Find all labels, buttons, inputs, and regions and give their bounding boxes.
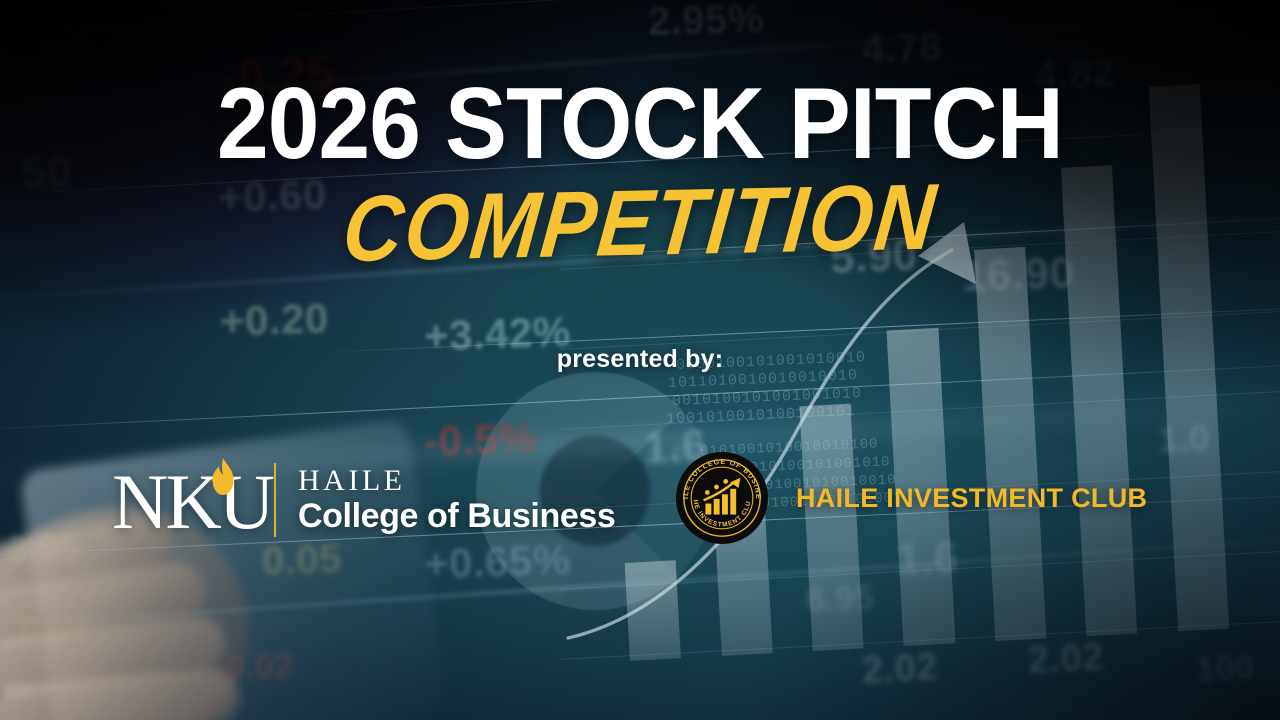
badge-seal-icon: HAILE COLLEGE OF BUSINESS THE INVESTMENT… xyxy=(676,452,768,544)
poster-content: 2026 STOCK PITCH COMPETITION presented b… xyxy=(0,0,1280,720)
investment-club-badge: HAILE COLLEGE OF BUSINESS THE INVESTMENT… xyxy=(676,452,768,544)
nku-haile-logo: NKU HAILE College of Business xyxy=(112,452,615,548)
presented-by-label: presented by: xyxy=(0,345,1280,374)
haile-college-text: HAILE College of Business xyxy=(298,465,615,535)
page-title: 2026 STOCK PITCH xyxy=(51,74,1229,175)
nku-wordmark: NKU xyxy=(112,463,272,541)
haile-investment-club-logo: HAILE COLLEGE OF BUSINESS THE INVESTMENT… xyxy=(676,452,1147,544)
investment-club-wordmark: HAILE INVESTMENT CLUB xyxy=(796,483,1147,514)
page-subtitle: COMPETITION xyxy=(0,164,1280,284)
college-of-business-name: College of Business xyxy=(298,497,615,535)
haile-name: HAILE xyxy=(298,465,615,497)
flame-icon xyxy=(208,457,238,501)
nku-mark: NKU xyxy=(112,461,262,539)
logo-divider xyxy=(274,463,276,537)
poster-canvas: 0100100101001010010101101001001001001000… xyxy=(0,0,1280,720)
